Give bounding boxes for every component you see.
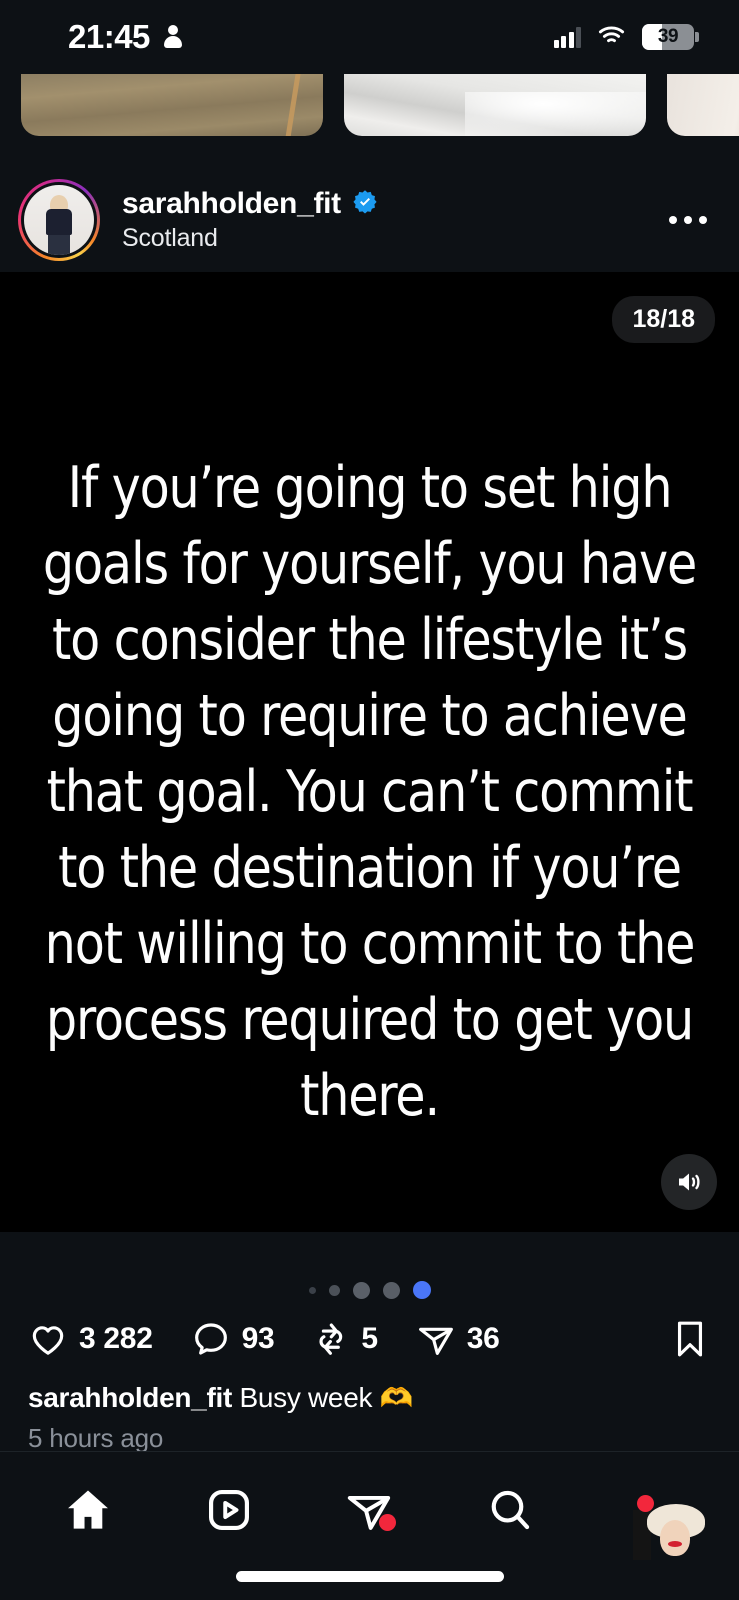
bottom-navigation-bar [0,1451,739,1600]
speaker-on-icon[interactable] [661,1154,717,1210]
send-paperplane-icon [416,1319,456,1359]
profile-notification-badge [637,1495,654,1512]
bookmark-icon [671,1318,709,1360]
status-bar-left: 21:45 [68,18,182,56]
nav-item-reels[interactable] [190,1476,268,1544]
carousel-dot [329,1285,340,1296]
nav-item-profile[interactable] [612,1476,690,1544]
avatar-legs [48,229,70,255]
verified-badge-icon [352,189,378,220]
more-options-icon[interactable] [663,198,713,242]
post-media-carousel[interactable]: 18/18 If you’re going to set high goals … [0,272,739,1232]
signal-bars-icon [554,27,582,48]
repost-button[interactable]: 5 [312,1319,377,1359]
caption-username[interactable]: sarahholden_fit [28,1382,232,1413]
previous-post-media-strip[interactable] [0,74,739,136]
battery-indicator: 39 [642,24,699,50]
nav-item-home[interactable] [49,1476,127,1544]
carousel-dot [353,1282,370,1299]
avatar-inner-ring [21,182,97,258]
post-action-bar: 3 282 93 5 [0,1308,739,1370]
save-button[interactable] [671,1318,709,1360]
carousel-dot-active [413,1281,431,1299]
battery-body: 39 [642,24,694,50]
post-location[interactable]: Scotland [122,224,378,253]
nav-item-messages[interactable] [330,1476,408,1544]
post-header-username-row: sarahholden_fit [122,187,378,221]
post-header: sarahholden_fit Scotland [0,168,739,272]
post-caption[interactable]: sarahholden_fit Busy week 🫶 [0,1382,739,1414]
like-button[interactable]: 3 282 [28,1319,153,1359]
reels-play-icon [204,1485,254,1535]
quote-text: If you’re going to set high goals for yo… [15,450,724,1134]
heart-icon [28,1319,68,1359]
status-bar-clock: 21:45 [68,18,150,56]
avatar[interactable] [18,179,100,261]
white-duvet-thumbnail[interactable] [344,74,646,136]
home-icon [62,1484,114,1536]
repost-arrows-icon [312,1319,350,1359]
carousel-dot [383,1282,400,1299]
bottom-nav-items [0,1474,739,1546]
comment-bubble-icon [191,1319,231,1359]
carousel-dots [0,1277,739,1303]
wood-wall-thumbnail[interactable] [667,74,739,136]
share-count: 36 [467,1322,500,1356]
caption-text: Busy week [239,1382,372,1413]
post-author-username[interactable]: sarahholden_fit [122,187,341,221]
comment-count: 93 [242,1322,275,1356]
carousel-dot [309,1287,316,1294]
avatar-image [24,185,94,255]
battery-tip [695,32,699,42]
like-count: 3 282 [79,1322,153,1356]
caption-emoji: 🫶 [380,1383,413,1413]
carousel-counter-badge: 18/18 [612,296,715,343]
home-indicator-bar[interactable] [236,1571,504,1582]
avatar-hair [46,192,72,226]
status-bar: 21:45 39 [0,0,739,74]
comment-button[interactable]: 93 [191,1319,275,1359]
post-header-text: sarahholden_fit Scotland [122,187,378,253]
share-button[interactable]: 36 [416,1319,500,1359]
battery-percent-label: 39 [658,26,678,48]
person-icon [164,25,182,50]
wifi-icon [598,25,625,50]
status-bar-right: 39 [554,24,700,50]
concrete-floor-thumbnail[interactable] [21,74,323,136]
instagram-feed-screen: 21:45 39 [0,0,739,1600]
post-timestamp: 5 hours ago [0,1423,739,1454]
nav-item-search[interactable] [471,1476,549,1544]
search-magnifier-icon [485,1485,535,1535]
repost-count: 5 [361,1322,377,1356]
